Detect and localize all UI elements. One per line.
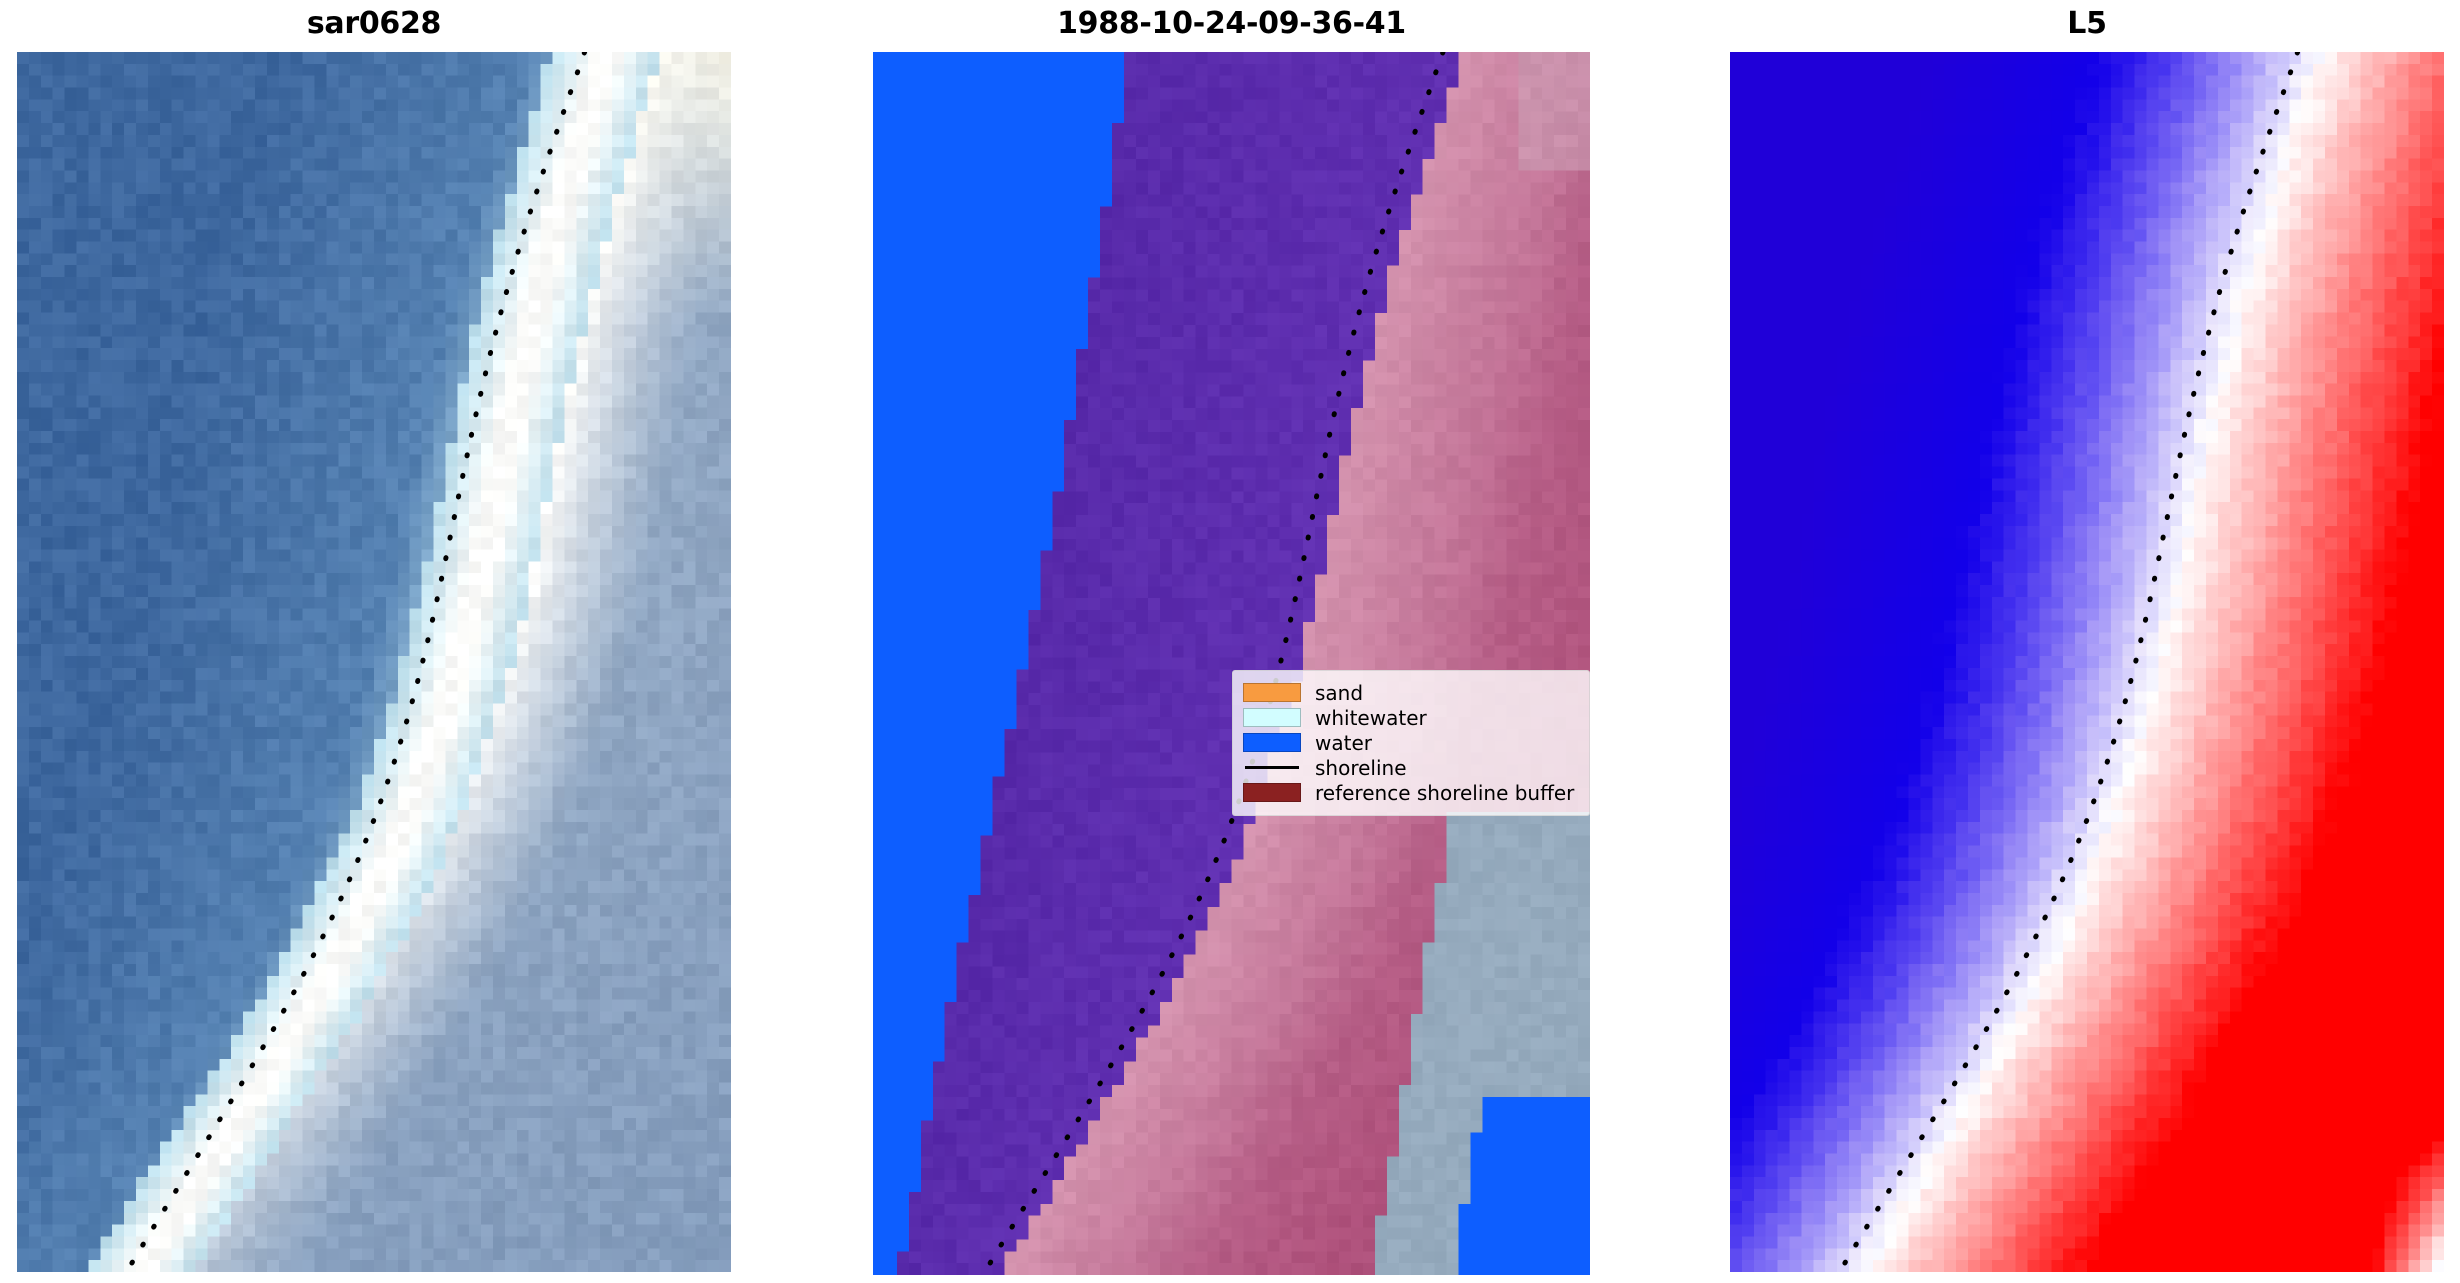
panel-classification: 1988-10-24-09-36-41 [873,0,1590,1283]
reference-buffer-swatch-icon [1243,783,1301,802]
figure-root: sar0628 1988-10-24-09-36-41 L5 [0,0,2460,1283]
shoreline-overlay-3 [1730,52,2444,1272]
legend-item-shoreline: shoreline [1243,755,1579,780]
shoreline-line-icon [1243,758,1301,777]
legend-label-sand: sand [1315,682,1363,704]
legend-item-sand: sand [1243,680,1579,705]
panel-l5: L5 [1730,0,2444,1283]
water-swatch-icon [1243,733,1301,752]
shoreline-overlay-2 [873,52,1590,1275]
legend-box: sand whitewater water shoreline referenc… [1232,670,1590,816]
panel-canvas-3 [1730,52,2444,1272]
panel-canvas-1 [17,52,731,1272]
panel-title-2: 1988-10-24-09-36-41 [873,4,1590,44]
panel-title-1: sar0628 [17,4,731,44]
legend-label-whitewater: whitewater [1315,707,1427,729]
panel-title-3: L5 [1730,4,2444,44]
legend-label-reference-buffer: reference shoreline buffer [1315,782,1574,804]
legend-item-water: water [1243,730,1579,755]
whitewater-swatch-icon [1243,708,1301,727]
legend-item-reference-buffer: reference shoreline buffer [1243,780,1579,805]
panel-canvas-2 [873,52,1590,1275]
legend-label-shoreline: shoreline [1315,757,1407,779]
shoreline-overlay-1 [17,52,731,1272]
sand-swatch-icon [1243,683,1301,702]
legend-item-whitewater: whitewater [1243,705,1579,730]
legend-label-water: water [1315,732,1372,754]
panel-sar0628: sar0628 [17,0,731,1283]
